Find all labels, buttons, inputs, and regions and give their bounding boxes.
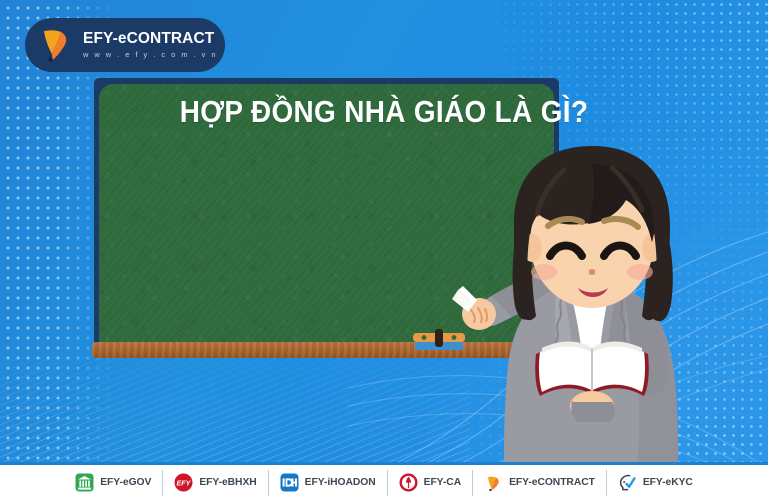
brand-website: w w w . e f y . c o m . v n (83, 51, 218, 58)
partner-label: EFY-eGOV (100, 477, 151, 488)
partner-label: EFY-eBHXH (199, 477, 256, 488)
bank-building-icon (75, 473, 94, 492)
ca-seal-icon (399, 473, 418, 492)
teacher-illustration (452, 138, 752, 462)
partner-item-efy-ebhxh[interactable]: EFY EFY-eBHXH (162, 470, 267, 496)
brand-logo-text: EFY-eCONTRACT w w w . e f y . c o m . v … (83, 31, 218, 58)
partner-label: EFY-CA (424, 477, 461, 488)
promo-banner: EFY-eCONTRACT w w w . e f y . c o m . v … (0, 0, 768, 500)
partner-label: EFY-iHOADON (305, 477, 376, 488)
face-verified-icon (618, 473, 637, 492)
partner-item-efy-ca[interactable]: EFY-CA (387, 470, 472, 496)
svg-text:EFY: EFY (177, 478, 192, 487)
partner-label: EFY-eCONTRACT (509, 477, 595, 488)
brand-title: EFY-eCONTRACT (83, 30, 214, 47)
partner-bar: EFY-eGOV EFY EFY-eBHXH (0, 462, 768, 500)
efy-circle-icon: EFY (174, 473, 193, 492)
page-title: HỢP ĐỒNG NHÀ GIÁO LÀ GÌ? (38, 94, 729, 130)
partner-item-efy-econtract[interactable]: EFY-eCONTRACT (472, 470, 606, 496)
efy-checkmark-logo-icon (40, 27, 74, 63)
efy-checkmark-icon (484, 473, 503, 492)
open-book-icon (535, 341, 649, 396)
partner-item-efy-egov[interactable]: EFY-eGOV (64, 470, 162, 496)
partner-label: EFY-eKYC (643, 477, 693, 488)
ihd-invoice-icon (280, 473, 299, 492)
partner-item-efy-ihoadon[interactable]: EFY-iHOADON (268, 470, 387, 496)
partner-item-efy-ekyc[interactable]: EFY-eKYC (606, 470, 704, 496)
brand-logo-pill[interactable]: EFY-eCONTRACT w w w . e f y . c o m . v … (25, 18, 225, 72)
